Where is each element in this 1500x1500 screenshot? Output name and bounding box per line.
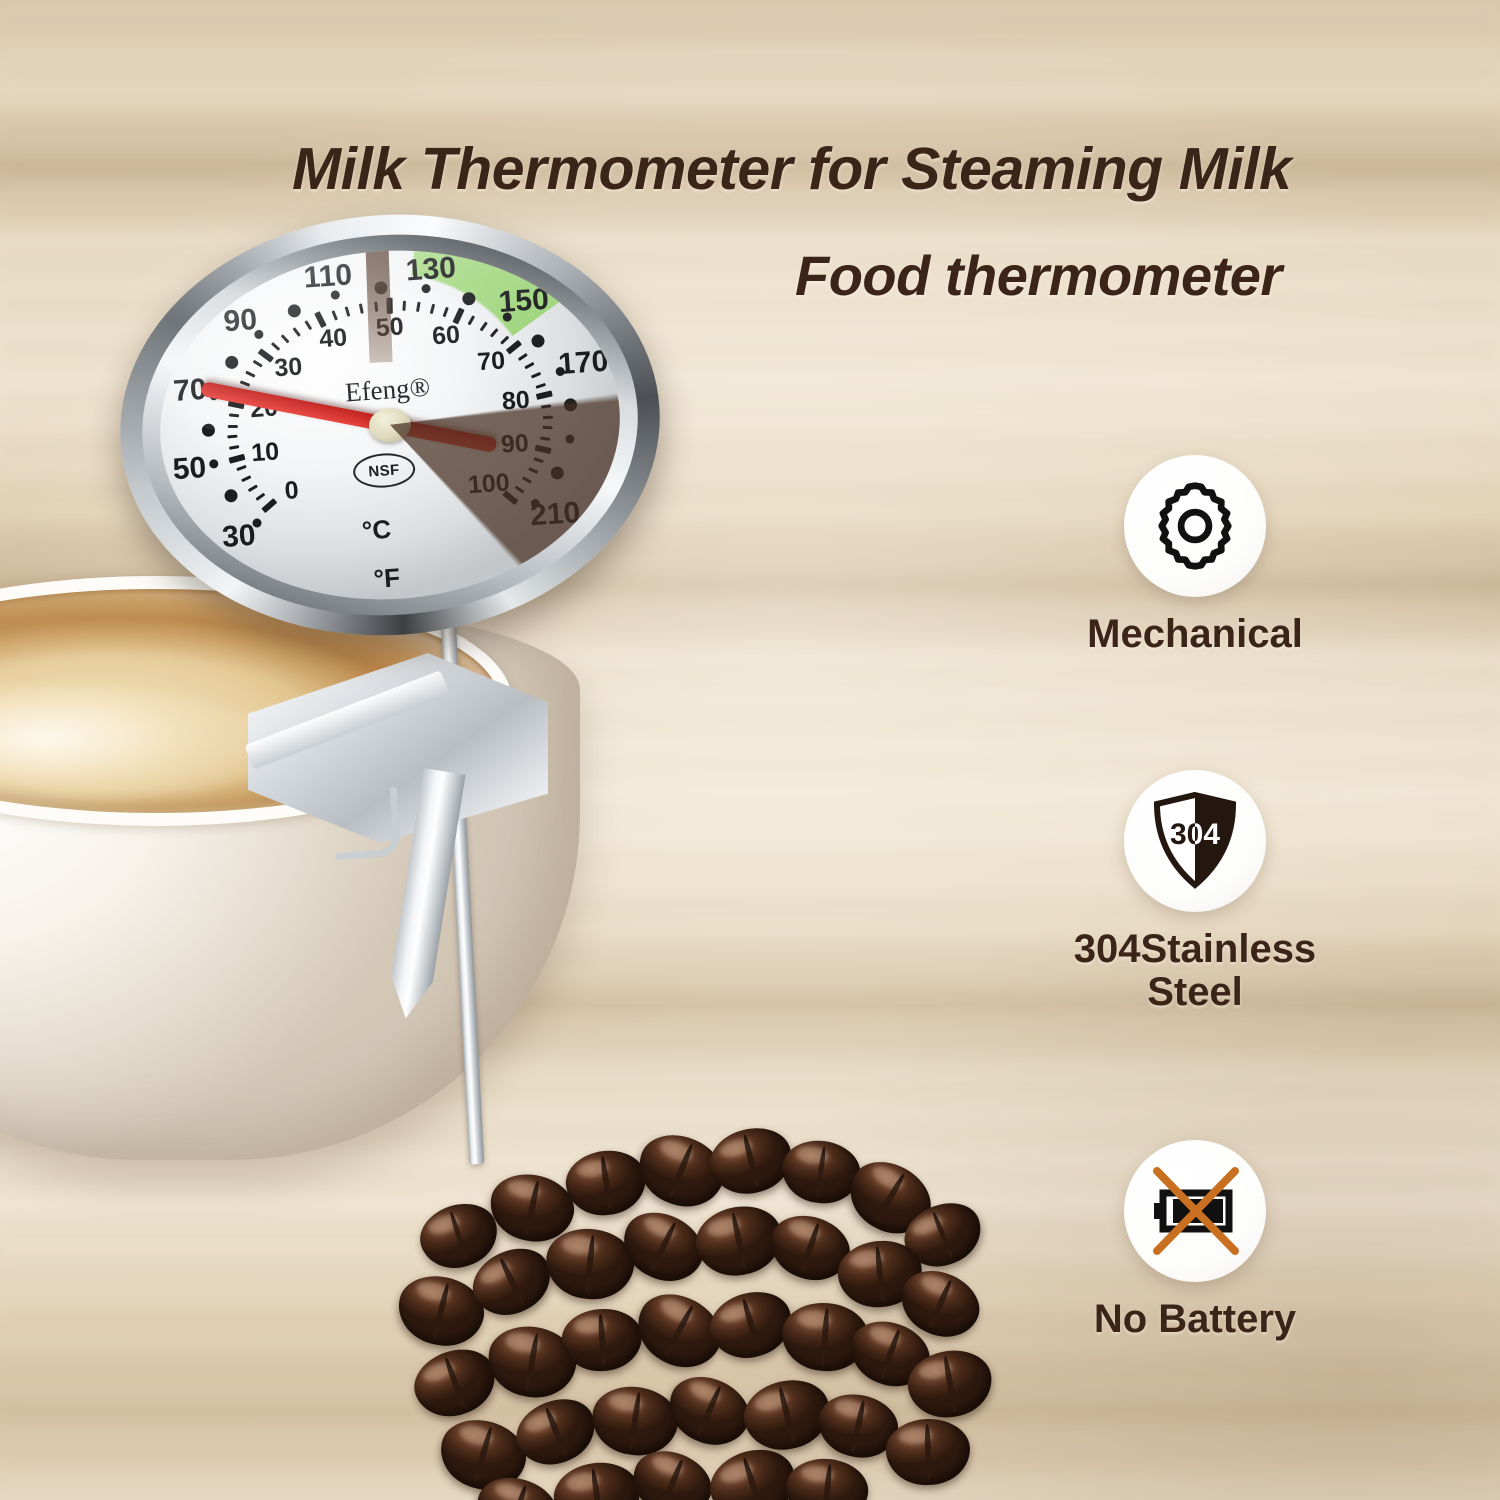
- feature-badge: 304 304: [1124, 770, 1266, 912]
- coffee-bean: [885, 1418, 971, 1487]
- feature-badge: [1124, 455, 1266, 597]
- dial-face: 3050709011013015017021001020304050607080…: [148, 235, 631, 614]
- headline-line-2: Food thermometer: [795, 243, 1282, 308]
- feature-label: No Battery: [1030, 1298, 1360, 1341]
- coffee-bean: [588, 1381, 683, 1460]
- feature-mechanical: Mechanical: [1030, 455, 1360, 656]
- pot-clip: [248, 653, 578, 1013]
- coffee-bean: [783, 1455, 871, 1500]
- product-image: 3050709011013015017021001020304050607080…: [0, 0, 1500, 1500]
- feature-badge: [1124, 1140, 1266, 1282]
- no-battery-icon: [1141, 1159, 1249, 1263]
- shield-304-icon: 304 304: [1149, 791, 1241, 891]
- feature-label: 304StainlessSteel: [1030, 928, 1360, 1014]
- feature-no-battery: No Battery: [1030, 1140, 1360, 1341]
- feature-stainless-steel: 304 304 304StainlessSteel: [1030, 770, 1360, 1014]
- clip-hook: [332, 787, 402, 860]
- thermometer-dial: 3050709011013015017021001020304050607080…: [106, 197, 674, 654]
- milk-thermometer: 3050709011013015017021001020304050607080…: [120, 215, 720, 1215]
- coffee-bean: [550, 1457, 645, 1500]
- headline-line-1: Milk Thermometer for Steaming Milk: [292, 135, 1291, 203]
- feature-label: Mechanical: [1030, 613, 1360, 656]
- gear-icon: [1147, 478, 1243, 574]
